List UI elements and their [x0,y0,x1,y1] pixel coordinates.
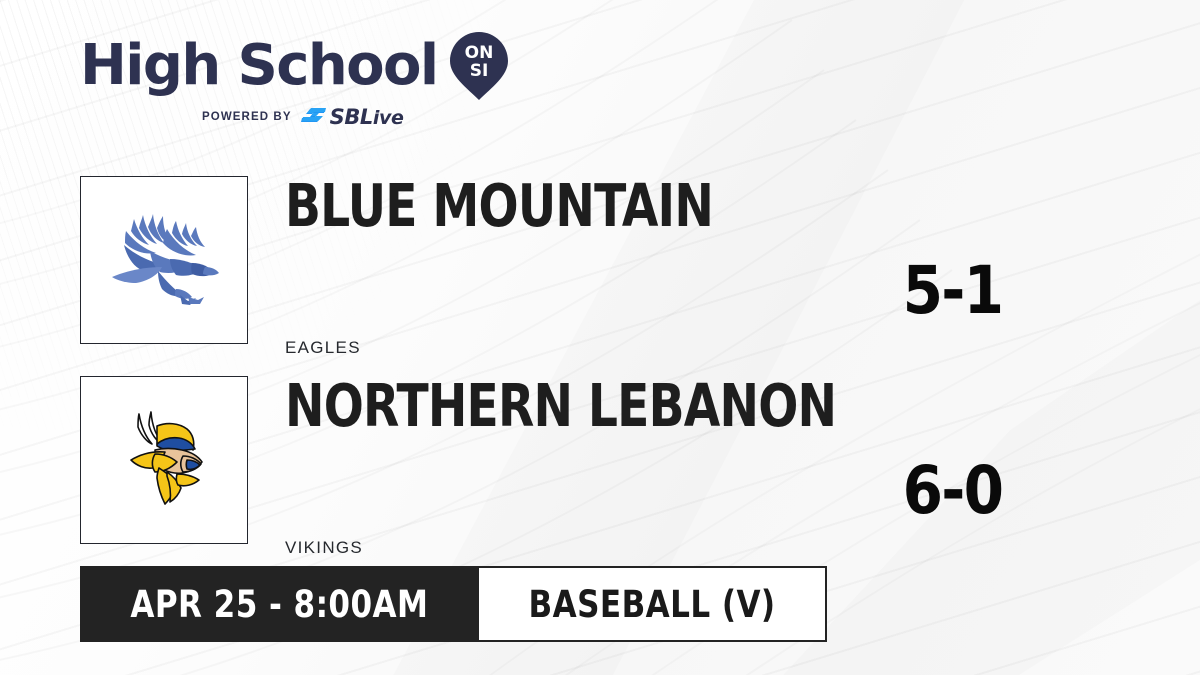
team-logo-box-2 [80,376,248,544]
powered-by-label: POWERED BY [202,111,292,123]
viking-logo-icon [105,406,223,514]
svg-text:ON: ON [465,43,494,63]
sblive-word-upper: SBL [330,105,373,129]
team-mascot-2: VIKINGS [285,538,363,558]
team-name-2: NORTHERN LEBANON [285,376,836,435]
game-datetime-label: APR 25 - 8:00AM [130,586,428,623]
matchup-graphic: High School ON SI POWERED BY SBLive [0,0,1200,675]
game-sport-block: BASEBALL (V) [479,566,827,642]
game-info-bar: APR 25 - 8:00AM BASEBALL (V) [80,566,827,642]
team-record-1: 5-1 [902,258,1002,324]
team-name-1: BLUE MOUNTAIN [285,176,713,235]
brand-row: High School ON SI [80,34,510,98]
sblive-s-mark-icon [301,108,327,127]
brand-lockup: High School ON SI POWERED BY SBLive [80,34,510,134]
sblive-wordmark: SBLive [330,105,404,129]
sblive-word-lower: ive [373,107,404,129]
on-si-pin-icon: ON SI [447,30,511,102]
game-sport-label: BASEBALL (V) [528,586,775,623]
team-logo-box-1 [80,176,248,344]
brand-wordmark: High School [80,38,437,94]
svg-text:SI: SI [470,61,489,81]
team-mascot-1: EAGLES [285,338,361,358]
eagle-logo-icon [104,205,224,315]
powered-by-row: POWERED BY SBLive [202,105,510,129]
game-datetime-block: APR 25 - 8:00AM [80,566,479,642]
team-record-2: 6-0 [902,458,1002,524]
